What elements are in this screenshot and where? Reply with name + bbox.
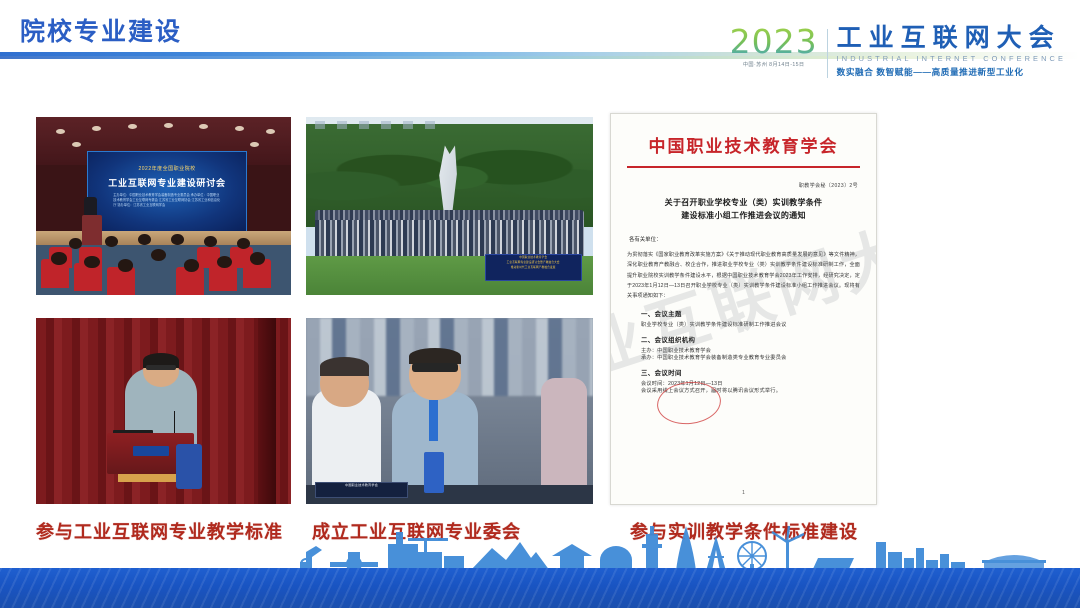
curtain-edge (258, 318, 276, 504)
speaker-glasses (146, 365, 177, 371)
podium-base (118, 474, 184, 481)
screen-line-2: 工业互联网专业建设研讨会 (88, 176, 246, 189)
top-logo-strip (315, 121, 447, 130)
audience-photo: 中国职业技术教育学会 (306, 318, 593, 504)
document-section-2-heading: 二、会议组织机构 (641, 335, 876, 344)
document-section-3-heading: 三、会议时间 (641, 368, 876, 377)
screen-line-1: 2022年度全国职业院校 (88, 165, 246, 172)
logo-text-block: 工业互联网大会 INDUSTRIAL INTERNET CONFERENCE 数… (837, 26, 1066, 78)
logo-year: 2023 (730, 26, 818, 57)
footer-band (0, 568, 1080, 608)
podium-plate (133, 446, 169, 455)
conference-hall-photo: 2022年度全国职业院校 工业互联网专业建设研讨会 主办单位：中国职业技术教育学… (36, 117, 291, 295)
logo-year-block: 2023 中国·苏州 8月14日-15日 (730, 26, 818, 68)
slide-root: 院校专业建设 2023 中国·苏州 8月14日-15日 工业互联网大会 INDU… (0, 0, 1080, 608)
logo-title-cn: 工业互联网大会 (837, 26, 1066, 51)
screen-organizers: 主办单位：中国职业技术教育学会装备制造专业委员会 承办单位：中国职业技术教育学会… (113, 193, 221, 208)
group-photo-banner: 中国职业技术教育学会 工业互联网专业建设研讨会暨产教融合大会 推动新时代工业互联… (485, 254, 582, 281)
water-bottle (424, 452, 444, 493)
document-body: 为贯彻落实《国家职业教育改革实施方案》《关于推动现代职业教育高质量发展的意见》等… (627, 250, 860, 302)
document-number: 职教学会秘〔2023〕2号 (611, 182, 858, 189)
attendee-right (541, 378, 587, 486)
document-org-title: 中国职业技术教育学会 (611, 132, 876, 157)
page-title: 院校专业建设 (20, 12, 182, 48)
attendee-center-hair (409, 348, 461, 365)
blue-chair (176, 444, 202, 489)
podium-speaker-photo (36, 318, 291, 504)
document-red-rule (627, 166, 860, 168)
attendee-left-hair (320, 357, 369, 376)
photo-caption-text: 中国职业技术教育学会 (316, 483, 408, 489)
document-section-1-heading: 一、会议主题 (641, 309, 876, 318)
logo-date-location: 中国·苏州 8月14日-15日 (743, 61, 805, 68)
document-section-2-text: 主办：中国职业技术教育学会 承办：中国职业技术教育学会装备制造类专业教育专业委员… (641, 347, 876, 361)
hall-projection-screen: 2022年度全国职业院校 工业互联网专业建设研讨会 主办单位：中国职业技术教育学… (87, 151, 247, 233)
logo-tagline: 数实融合 数智赋能——高质量推进新型工业化 (837, 66, 1066, 78)
document-section-1-text: 职业学校专业（类）实训教学条件建设标准研制工作推进会议 (641, 321, 876, 328)
skyline-graphic (0, 526, 1080, 572)
document-title-line2: 建设标准小组工作推进会议的通知 (629, 209, 858, 223)
banner-line-3: 推动新时代工业互联网产教融合发展 (486, 265, 581, 270)
notice-document: 中国职业技术教育学会 职教学会秘〔2023〕2号 关于召开职业学校专业（类）实训… (610, 113, 877, 505)
document-title-line1: 关于召开职业学校专业（类）实训教学条件 (629, 196, 858, 210)
logo-divider (827, 29, 828, 78)
crowd-front-row (315, 220, 585, 256)
document-addressee: 各有关单位： (629, 235, 876, 243)
photo-caption-bar: 中国职业技术教育学会 (315, 482, 409, 499)
attendee-center-glasses (412, 363, 458, 372)
lanyard (429, 400, 438, 441)
logo-title-en: INDUSTRIAL INTERNET CONFERENCE (837, 54, 1066, 63)
conference-logo: 2023 中国·苏州 8月14日-15日 工业互联网大会 INDUSTRIAL … (730, 26, 1066, 78)
document-page-number: 1 (611, 490, 876, 496)
group-photo: 中国职业技术教育学会 工业互联网专业建设研讨会暨产教融合大会 推动新时代工业互联… (306, 117, 593, 295)
